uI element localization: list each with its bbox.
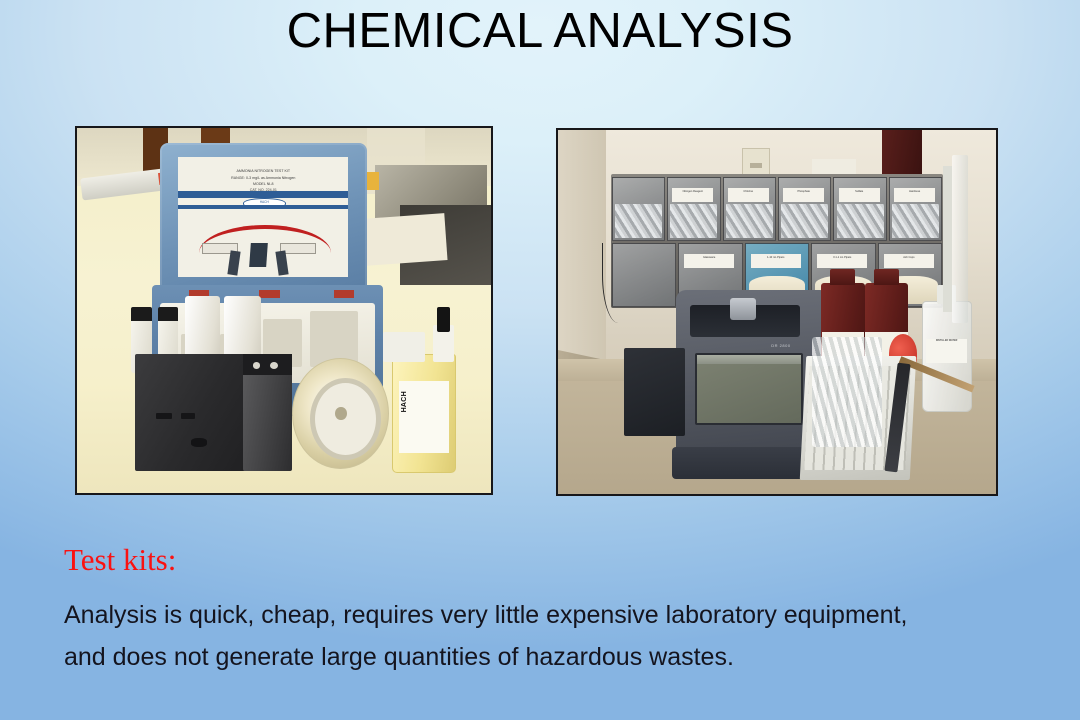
instrument-display-screen [695, 353, 803, 425]
bottle-cap-white [383, 332, 424, 361]
test-kit-case-lid: AMMONIA NITROGEN TEST KIT RANGE: 0-3 mg/… [160, 143, 367, 289]
image-lab-bench: Nitrogen Reagent Chlorine Phosphate Sulf… [556, 128, 998, 496]
bin-label: Nitrogen Reagent [672, 188, 713, 202]
reagent-packets [837, 204, 884, 238]
comparator-slot-1 [156, 413, 172, 419]
bin-label: 1-10 mL Pipets [751, 254, 801, 268]
body-line-1-text: Analysis is quick, cheap, requires very … [64, 594, 907, 636]
reagent-packets [670, 204, 717, 238]
color-wheel-ring [310, 378, 381, 460]
dark-reagent-jar [882, 128, 921, 177]
black-equipment-box [624, 348, 685, 435]
bottle-straw [943, 166, 952, 312]
sample-compartment-lid [690, 305, 800, 337]
bin-label: Phosphate [783, 188, 824, 202]
bin-label: Glassware [684, 254, 734, 268]
kit-label-line-2: RANGE: 0-3 mg/L as Ammonia Nitrogen [189, 176, 338, 181]
storage-bin: Phosphate [778, 177, 831, 241]
body-line-2: and does not generate large quantities o… [64, 636, 1054, 678]
reagent-packets [892, 204, 939, 238]
reagent-packets [615, 204, 662, 238]
wall-outlet [742, 148, 770, 175]
bin-label: Hardness [894, 188, 935, 202]
storage-bin: Chlorine [723, 177, 776, 241]
yellow-reagent-bottle: HACH [392, 354, 456, 473]
color-comparator-box [135, 354, 251, 471]
bin-label: Ash Cups [884, 254, 934, 268]
paper-stack [361, 213, 447, 266]
bin-label: Sulfate [839, 188, 880, 202]
storage-bin: Nitrogen Reagent [667, 177, 720, 241]
wash-bottle-label: DISTILLED WATER [926, 339, 966, 363]
reagent-brand-text: HACH [401, 391, 408, 412]
viewer-top [243, 354, 293, 375]
reagent-fine-print [416, 388, 446, 392]
goggle-arm-left [228, 250, 241, 275]
kit-instruction-sheet: AMMONIA NITROGEN TEST KIT RANGE: 0-3 mg/… [178, 157, 348, 277]
bin-label: Chlorine [728, 188, 769, 202]
comparator-viewer [243, 354, 293, 471]
reagent-packets [726, 204, 773, 238]
storage-bin: Sulfate [833, 177, 886, 241]
label-blue-band-2 [178, 205, 348, 209]
dropper-bulb [437, 307, 450, 333]
case-latch-right [334, 290, 355, 297]
bin-row-top: Nitrogen Reagent Chlorine Phosphate Sulf… [611, 176, 944, 242]
reagent-packets [781, 204, 828, 238]
comparator-slot-2 [181, 413, 195, 419]
goggle-bridge [249, 243, 268, 267]
glass-test-tubes [812, 337, 882, 446]
glass-tube [952, 155, 967, 322]
body-paragraph: Analysis is quick, cheap, requires very … [64, 594, 1054, 678]
instrument-model-text: DR 2800 [771, 343, 790, 348]
reagent-bottle-label: HACH [399, 381, 449, 453]
comparator-knob [191, 438, 207, 446]
page-title: CHEMICAL ANALYSIS [0, 2, 1080, 60]
label-fine-print [189, 212, 338, 215]
storage-bin: Hardness [889, 177, 942, 241]
image-test-kit: AMMONIA NITROGEN TEST KIT RANGE: 0-3 mg/… [75, 126, 493, 495]
white-tray [812, 159, 856, 174]
body-line-1: Analysis is quick, cheap, requires very … [64, 594, 1053, 636]
kit-label-line-3: MODEL NI-8 [189, 182, 338, 187]
label-blue-band [178, 191, 348, 198]
bin-label: 0.1-1 mL Pipets [817, 254, 867, 268]
color-wheel-hub [335, 407, 346, 420]
storage-bin [612, 177, 665, 241]
case-latch-middle [259, 290, 280, 297]
slide-canvas: CHEMICAL ANALYSIS AMMONIA NITROGEN TEST … [0, 0, 1080, 720]
section-subhead: Test kits: [64, 542, 176, 578]
kit-label-line-1: AMMONIA NITROGEN TEST KIT [189, 169, 338, 174]
